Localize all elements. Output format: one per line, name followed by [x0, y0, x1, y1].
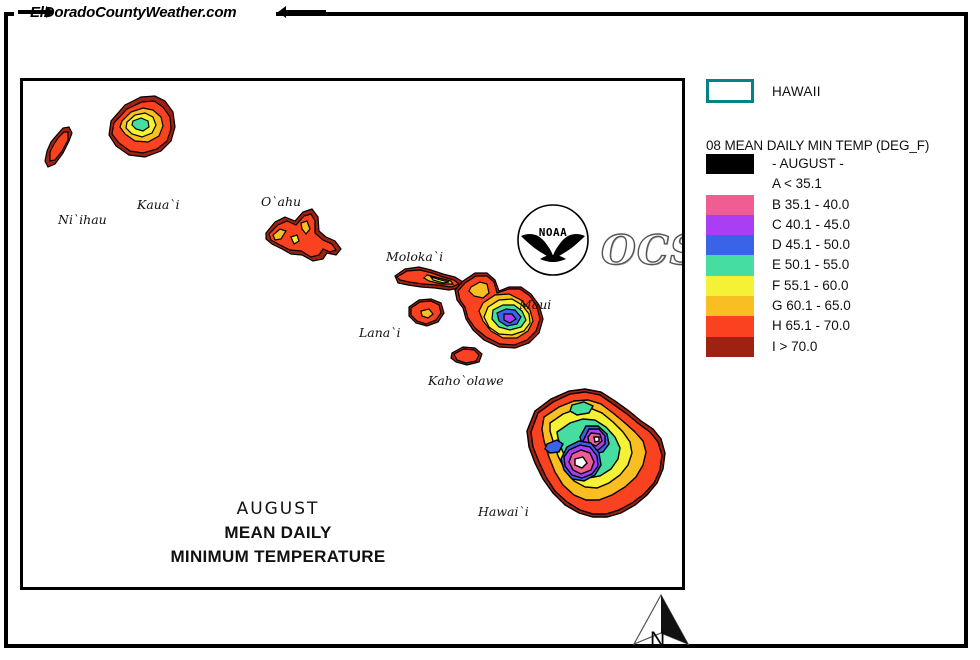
map-legend: HAWAII 08 MEAN DAILY MIN TEMP (DEG_F) - … — [706, 78, 956, 357]
legend-row: A < 35.1 — [706, 174, 956, 194]
legend-label: H 65.1 - 70.0 — [772, 316, 850, 336]
island-label-kauai: Kaua`i — [137, 197, 180, 212]
legend-label: - AUGUST - — [772, 154, 844, 174]
legend-swatch — [706, 154, 754, 174]
legend-row: B 35.1 - 40.0 — [706, 195, 956, 215]
map-title-block: AUGUST MEAN DAILY MINIMUM TEMPERATURE — [123, 499, 433, 567]
svg-text:NOAA: NOAA — [539, 226, 568, 239]
legend-row: G 60.1 - 65.0 — [706, 296, 956, 316]
legend-label: F 55.1 - 60.0 — [772, 276, 849, 296]
legend-row: C 40.1 - 45.0 — [706, 215, 956, 235]
map-title-line2: MINIMUM TEMPERATURE — [123, 547, 433, 567]
island-kaho-olawe — [451, 347, 482, 365]
legend-row: I > 70.0 — [706, 337, 956, 357]
legend-row: E 50.1 - 55.0 — [706, 255, 956, 275]
island-label-lanai: Lana`i — [359, 325, 401, 340]
legend-swatch — [706, 337, 754, 357]
legend-label: D 45.1 - 50.0 — [772, 235, 850, 255]
island-label-oahu: O`ahu — [261, 194, 301, 209]
brand-arrow-right-icon — [278, 6, 286, 18]
legend-area-label: HAWAII — [772, 84, 821, 99]
legend-swatch — [706, 316, 754, 336]
legend-row: - AUGUST - — [706, 154, 956, 174]
island-kaua-i — [109, 96, 175, 157]
island-lana-i — [409, 299, 444, 326]
legend-label: B 35.1 - 40.0 — [772, 195, 849, 215]
legend-label: A < 35.1 — [772, 174, 822, 194]
island-label-molokai: Moloka`i — [386, 249, 443, 264]
legend-swatch — [706, 235, 754, 255]
legend-swatch — [706, 174, 754, 194]
legend-label: G 60.1 - 65.0 — [772, 296, 851, 316]
island-o-ahu — [266, 209, 341, 261]
legend-class-list: - AUGUST - A < 35.1 B 35.1 - 40.0 C 40.1… — [706, 154, 956, 357]
noaa-logo-icon: NOAA — [516, 203, 590, 277]
island-label-maui: Maui — [519, 297, 551, 312]
brand-rule-right — [286, 10, 326, 14]
legend-area-swatch — [706, 79, 754, 103]
legend-swatch — [706, 255, 754, 275]
legend-row: H 65.1 - 70.0 — [706, 316, 956, 336]
legend-area-row: HAWAII — [706, 78, 956, 104]
legend-row: F 55.1 - 60.0 — [706, 276, 956, 296]
map-title-line1: MEAN DAILY — [123, 523, 433, 543]
island-ni-ihau — [45, 127, 72, 167]
legend-swatch — [706, 296, 754, 316]
island-moloka-i — [395, 267, 463, 290]
island-label-niihau: Ni`ihau — [58, 212, 107, 227]
ocs-logo-text: OCS — [601, 227, 685, 274]
legend-row: D 45.1 - 50.0 — [706, 235, 956, 255]
legend-swatch — [706, 215, 754, 235]
legend-swatch — [706, 276, 754, 296]
map-frame: AUGUST MEAN DAILY MINIMUM TEMPERATURE NO… — [20, 78, 685, 590]
site-title: ElDoradoCountyWeather.com — [30, 2, 280, 24]
island-hawai-i — [527, 389, 665, 517]
island-label-kahoolawe: Kaho`olawe — [428, 373, 504, 388]
legend-label: I > 70.0 — [772, 337, 817, 357]
legend-swatch — [706, 195, 754, 215]
compass-north-label: N — [650, 628, 665, 652]
island-label-hawaii: Hawai`i — [478, 504, 529, 519]
legend-label: C 40.1 - 45.0 — [772, 215, 850, 235]
legend-header: 08 MEAN DAILY MIN TEMP (DEG_F) — [706, 138, 956, 153]
map-title-month: AUGUST — [123, 499, 433, 519]
legend-label: E 50.1 - 55.0 — [772, 255, 849, 275]
